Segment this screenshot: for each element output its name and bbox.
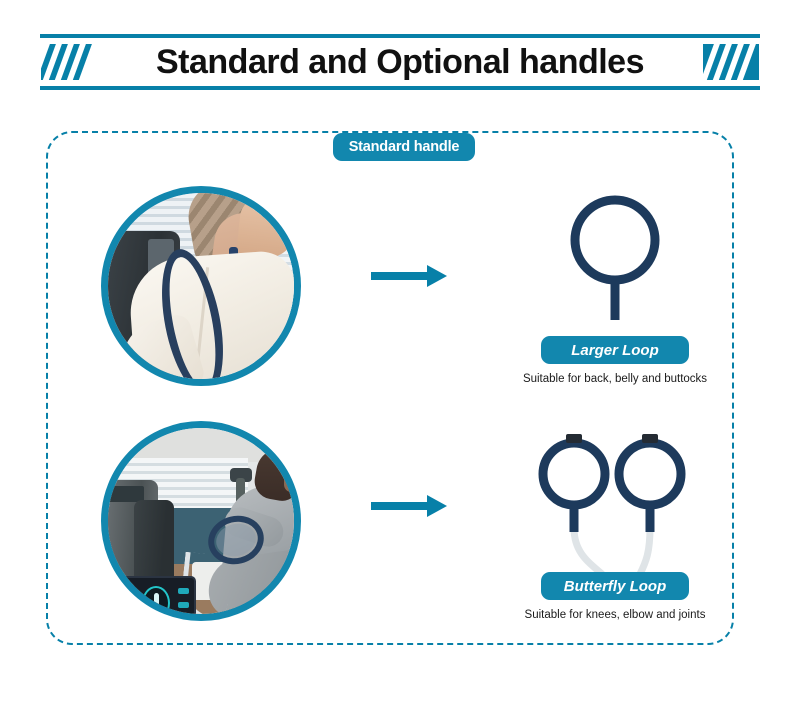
larger-loop-graphic	[556, 190, 674, 322]
page-header: Standard and Optional handles	[40, 34, 760, 90]
photo-butterfly-handle-use: LOOP	[101, 421, 301, 621]
arrow-right-icon	[371, 495, 447, 517]
stripes-decoration-right	[703, 44, 759, 80]
butterfly-loop-caption: Suitable for knees, elbow and joints	[515, 608, 715, 622]
photo-bottom-scene: LOOP	[108, 428, 294, 614]
display-figure-icon	[154, 593, 159, 615]
arrow-shaft	[371, 272, 429, 280]
standard-handle-badge: Standard handle	[333, 133, 475, 161]
loop-inner-fill	[213, 520, 260, 561]
panel-button	[178, 588, 189, 594]
arrow-head	[427, 265, 447, 287]
panel-button	[118, 598, 129, 604]
butterfly-loop-graphic	[528, 424, 704, 576]
machine-brand-label: LOOP	[130, 603, 152, 610]
butterfly-loop-badge: Butterfly Loop	[541, 572, 689, 600]
larger-loop-caption: Suitable for back, belly and buttocks	[515, 372, 715, 386]
panel-button	[178, 602, 189, 608]
arrow-shaft	[371, 502, 429, 510]
photo-standard-handle-torso	[101, 186, 301, 386]
larger-loop-badge: Larger Loop	[541, 336, 689, 364]
arrow-right-icon	[371, 265, 447, 287]
photo-top-scene	[108, 193, 294, 379]
arrow-head	[427, 495, 447, 517]
panel-button	[118, 586, 129, 592]
page-title: Standard and Optional handles	[40, 34, 760, 90]
